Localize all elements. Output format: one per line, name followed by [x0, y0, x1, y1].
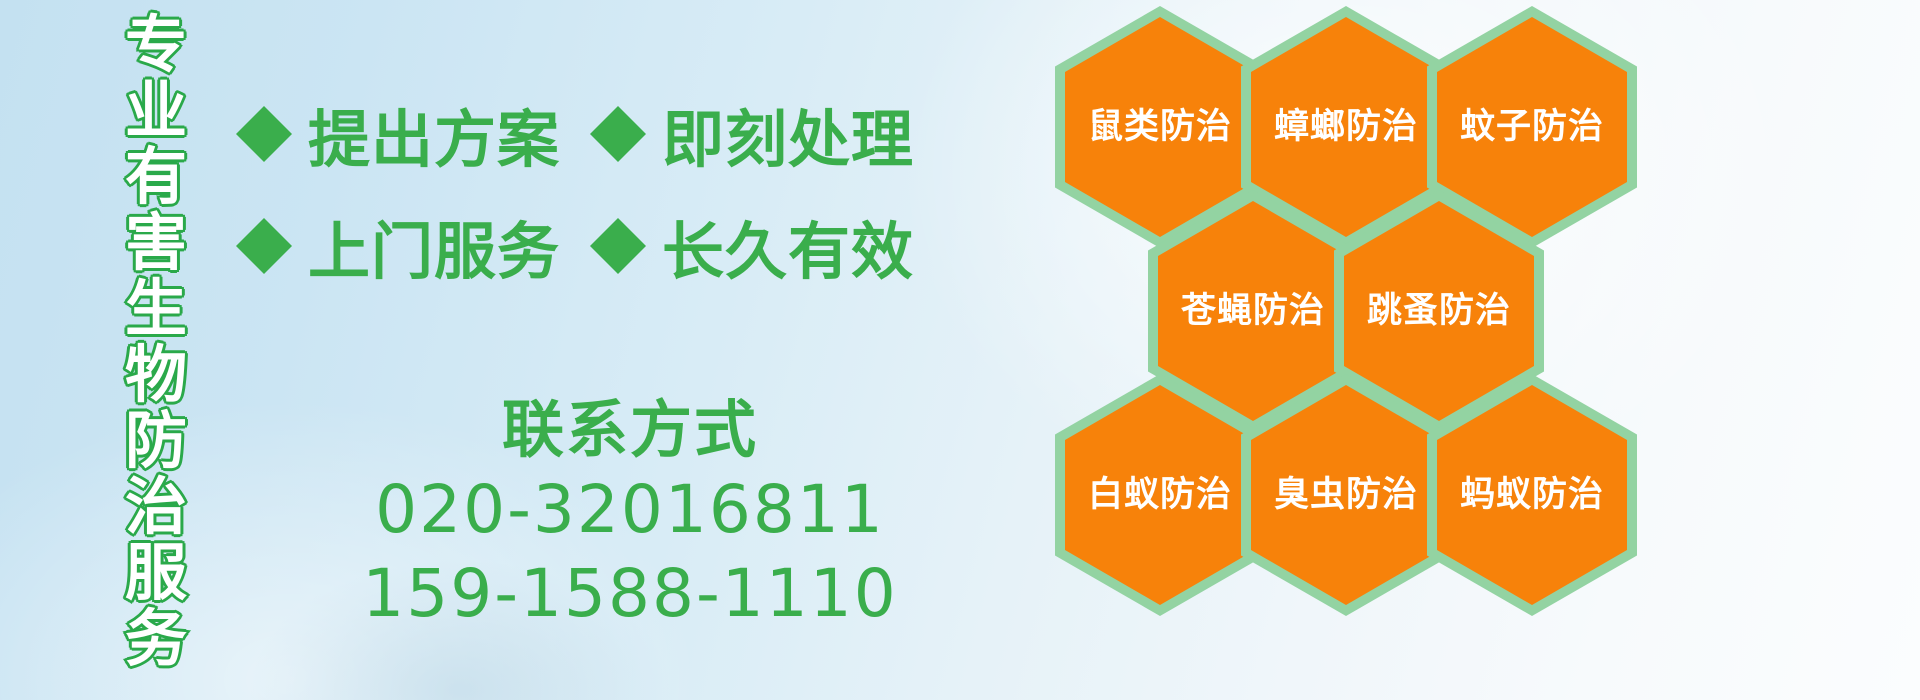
- feature-label-long-lasting: 长久有效: [662, 201, 914, 291]
- service-label-rodent: 鼠类防治: [1088, 110, 1232, 145]
- service-hex-ant[interactable]: 蚂蚁防治: [1427, 374, 1637, 616]
- service-hex-grid: 鼠类防治 蟑螂防治 蚊子防治 苍蝇防治 跳蚤防治 白蚁防治: [1055, 0, 1875, 700]
- feature-label-propose-plan: 提出方案: [308, 89, 560, 179]
- diamond-bullet-icon: [236, 190, 292, 246]
- service-label-cockroach: 蟑螂防治: [1274, 110, 1418, 145]
- service-label-flea: 跳蚤防治: [1367, 294, 1511, 329]
- service-hex-termite[interactable]: 白蚁防治: [1055, 374, 1265, 616]
- vertical-headline: 专 业 有 害 生 物 防 治 服 务: [108, 12, 204, 688]
- vertical-headline-char-2: 有: [125, 144, 187, 210]
- feature-label-immediate-action: 即刻处理: [662, 89, 914, 179]
- feature-row-2: 上门服务 长久有效: [236, 190, 876, 302]
- vertical-headline-char-7: 治: [125, 474, 187, 540]
- vertical-headline-char-3: 害: [125, 210, 187, 276]
- diamond-bullet-icon: [590, 190, 646, 246]
- feature-list: 提出方案 即刻处理 上门服务 长久有效: [236, 78, 876, 302]
- contact-block: 联系方式 020-32016811 159-1588-1110: [300, 392, 960, 636]
- vertical-headline-char-9: 务: [125, 606, 187, 672]
- service-hex-bedbug[interactable]: 臭虫防治: [1241, 374, 1451, 616]
- service-label-ant: 蚂蚁防治: [1460, 478, 1604, 513]
- diamond-bullet-icon: [590, 78, 646, 134]
- contact-phone-landline[interactable]: 020-32016811: [300, 468, 960, 552]
- service-label-bedbug: 臭虫防治: [1274, 478, 1418, 513]
- diamond-bullet-icon: [236, 78, 292, 134]
- contact-title: 联系方式: [300, 392, 960, 468]
- vertical-headline-char-6: 防: [125, 408, 187, 474]
- service-label-fly: 苍蝇防治: [1181, 294, 1325, 329]
- vertical-headline-char-5: 物: [125, 342, 187, 408]
- vertical-headline-char-4: 生: [125, 276, 187, 342]
- feature-label-onsite-service: 上门服务: [308, 201, 560, 291]
- service-label-termite: 白蚁防治: [1088, 478, 1232, 513]
- vertical-headline-char-8: 服: [125, 540, 187, 606]
- vertical-headline-char-0: 专: [125, 12, 187, 78]
- promo-banner: 专 业 有 害 生 物 防 治 服 务 提出方案 即刻处理 上门服务 长久有效 …: [0, 0, 1920, 700]
- feature-row-1: 提出方案 即刻处理: [236, 78, 876, 190]
- service-label-mosquito: 蚊子防治: [1460, 110, 1604, 145]
- vertical-headline-char-1: 业: [125, 78, 187, 144]
- contact-phone-mobile[interactable]: 159-1588-1110: [300, 552, 960, 636]
